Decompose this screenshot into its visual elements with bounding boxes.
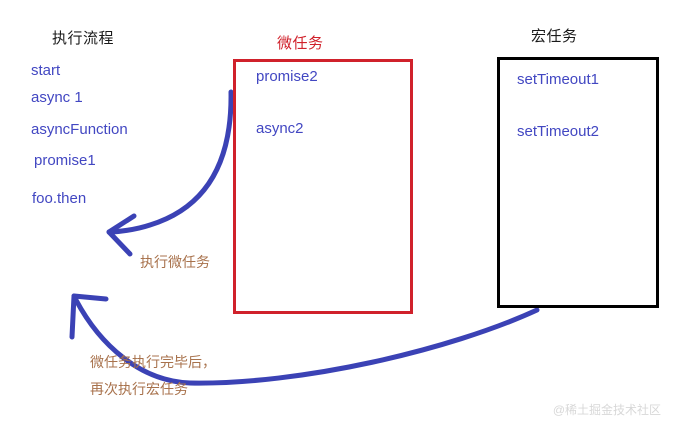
annotation-after-microtask-line2: 再次执行宏任务 (90, 379, 188, 399)
macro-task-title: 宏任务 (531, 25, 578, 46)
macro-task-item-settimeout1: setTimeout1 (517, 71, 599, 88)
annotation-execute-microtask: 执行微任务 (140, 252, 210, 272)
micro-task-title: 微任务 (277, 32, 324, 53)
flow-item-async-1: async 1 (31, 89, 83, 106)
flow-item-async-function: asyncFunction (31, 121, 128, 138)
macro-task-box (497, 57, 659, 308)
micro-task-arrow (109, 92, 231, 254)
micro-task-item-promise2: promise2 (256, 68, 318, 85)
macro-task-item-settimeout2: setTimeout2 (517, 123, 599, 140)
annotation-after-microtask-line1: 微任务执行完毕后， (90, 352, 216, 372)
diagram-canvas: 执行流程 start async 1 asyncFunction promise… (0, 0, 677, 426)
flow-item-promise1: promise1 (34, 152, 96, 169)
watermark: @稀土掘金技术社区 (553, 401, 661, 418)
flow-item-start: start (31, 62, 60, 79)
flow-item-foo-then: foo.then (32, 190, 86, 207)
micro-task-box (233, 59, 413, 314)
flow-column-title: 执行流程 (52, 27, 114, 48)
micro-task-item-async2: async2 (256, 120, 304, 137)
